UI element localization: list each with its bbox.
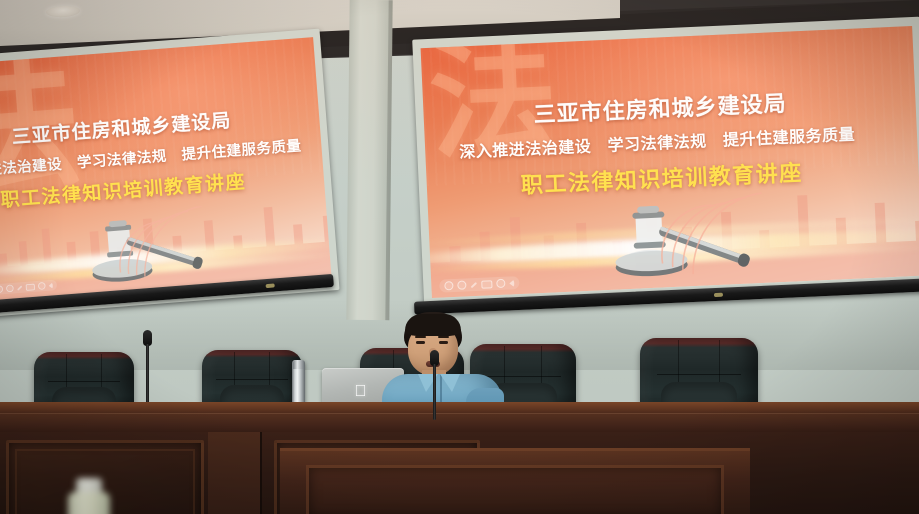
pen-icon[interactable] — [17, 285, 22, 290]
desk-pillar — [208, 432, 260, 514]
chair-crease — [48, 381, 120, 382]
eye-right — [439, 341, 448, 344]
chair-crease — [657, 374, 742, 375]
wall-column — [346, 0, 392, 320]
stainless-steel-thermos — [292, 360, 305, 408]
hair-fringe — [405, 314, 461, 336]
menu-icon[interactable] — [6, 284, 14, 292]
more-options-icon[interactable] — [38, 282, 46, 290]
mic-stem — [146, 344, 149, 408]
projection-screen-left: 法 — [0, 29, 340, 318]
next-slide-icon[interactable] — [48, 282, 53, 289]
gooseneck-mic-speaker — [428, 350, 442, 416]
roller-knob-left — [266, 283, 275, 288]
gooseneck-mic-left — [140, 330, 154, 406]
projection-screen-right: 法 — [412, 17, 919, 308]
slide-view-icon[interactable] — [26, 283, 35, 290]
screen-surface-left: 法 — [0, 37, 332, 309]
screen-surface-right: 法 — [421, 26, 919, 298]
eyebrow-left — [415, 336, 426, 338]
roller-knob-right — [714, 293, 723, 297]
eye-left — [416, 341, 425, 344]
menu-icon[interactable] — [457, 280, 466, 289]
gavel-arc-lines-left — [110, 204, 235, 285]
more-options-icon[interactable] — [496, 279, 505, 288]
ceiling-light-icon — [46, 5, 81, 18]
apple-logo-icon:  — [354, 384, 367, 399]
gavel-arc-lines-right — [653, 188, 797, 278]
chair-crease — [216, 379, 288, 380]
water-bottle — [66, 478, 112, 514]
prev-slide-icon[interactable] — [444, 281, 453, 290]
bottle-body — [68, 492, 110, 514]
next-slide-icon[interactable] — [509, 279, 514, 287]
mic-stem — [433, 364, 436, 420]
prev-slide-icon[interactable] — [0, 285, 3, 293]
pen-icon[interactable] — [471, 282, 478, 288]
conference-room-photo: 法 — [0, 0, 919, 514]
collar-right — [440, 374, 460, 392]
slide-view-icon[interactable] — [481, 280, 492, 288]
desk-seam — [260, 432, 262, 514]
eyebrow-right — [438, 336, 449, 338]
desk-rail — [0, 413, 919, 433]
front-podium — [280, 448, 750, 514]
